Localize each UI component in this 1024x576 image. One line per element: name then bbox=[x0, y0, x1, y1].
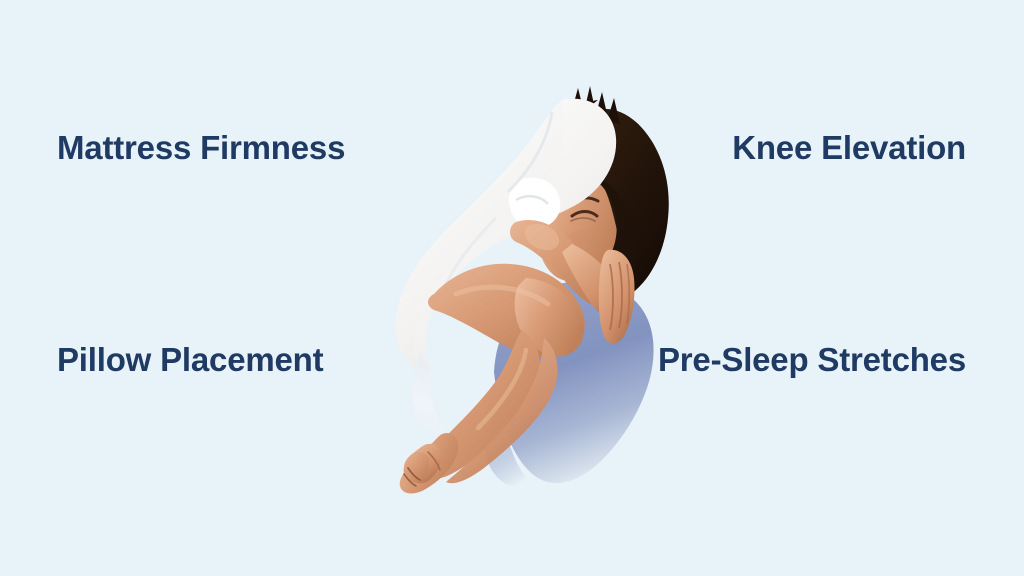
sleeping-woman-illustration bbox=[376, 82, 676, 494]
label-pre-sleep-stretches: Pre-Sleep Stretches bbox=[658, 340, 966, 380]
label-knee-elevation: Knee Elevation bbox=[732, 128, 966, 168]
label-mattress-firmness: Mattress Firmness bbox=[57, 128, 345, 168]
feet-shape bbox=[400, 433, 459, 494]
label-pillow-placement: Pillow Placement bbox=[57, 340, 323, 380]
slide-canvas: Mattress Firmness Knee Elevation Pillow … bbox=[0, 0, 1024, 576]
sleeping-woman-svg bbox=[376, 82, 676, 494]
